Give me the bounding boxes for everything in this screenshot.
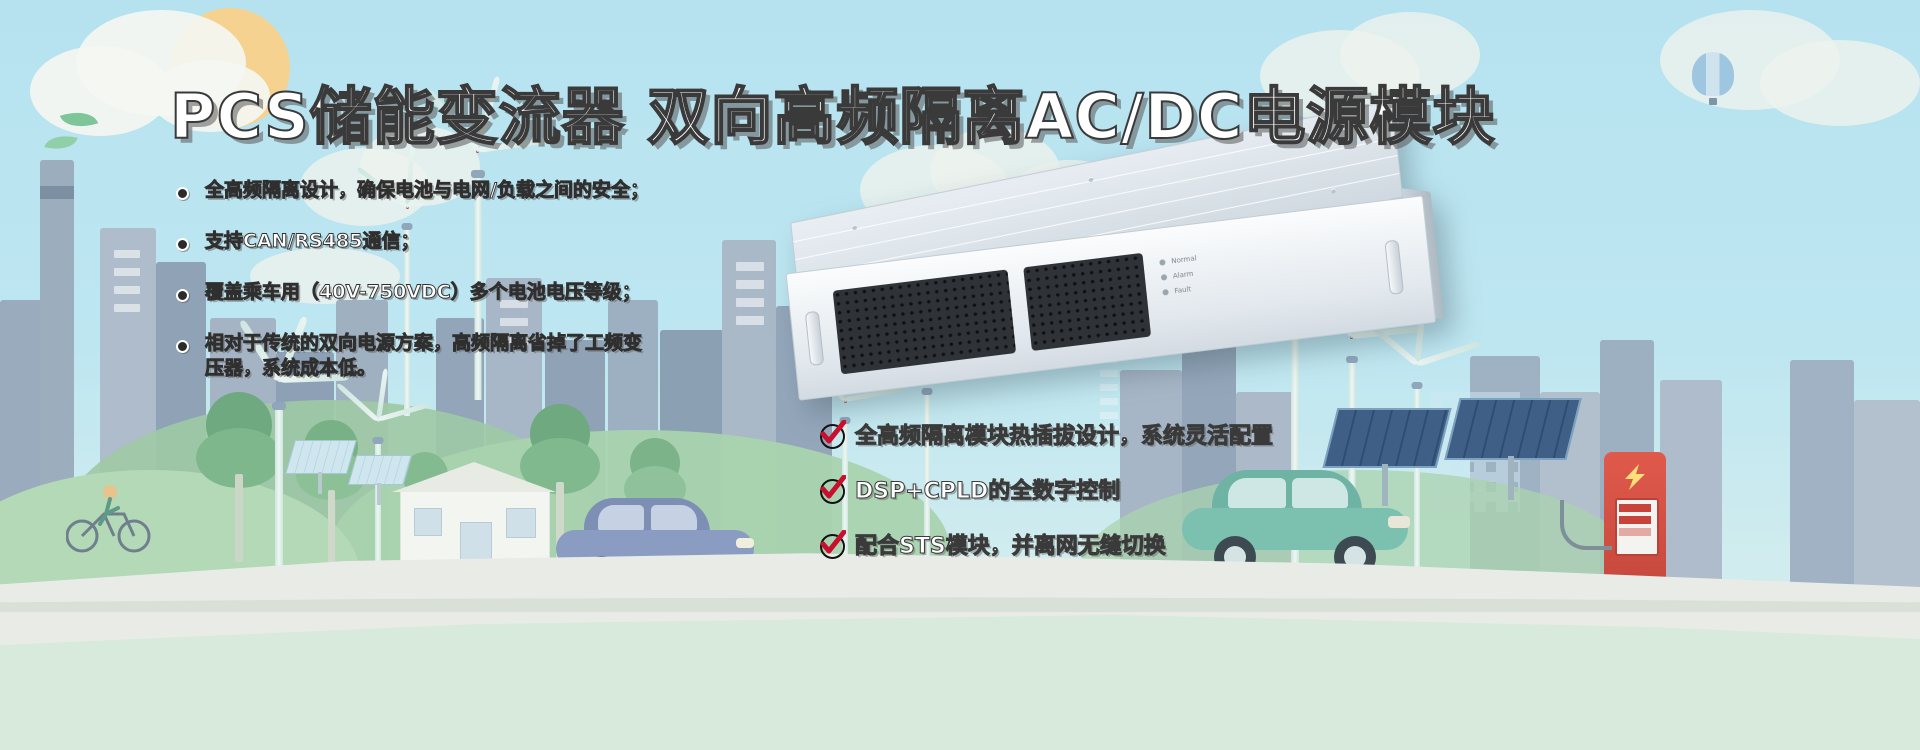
- check-mark-icon: [818, 475, 846, 503]
- list-item: DSP+CPLD的全数字控制: [818, 473, 1273, 505]
- highlight-list: 全高频隔离模块热插拔设计，系统灵活配置 DSP+CPLD的全数字控制 配合STS…: [818, 418, 1273, 583]
- feature-list: 全高频隔离设计，确保电池与电网/负载之间的安全； 支持CAN/RS485通信； …: [176, 178, 896, 407]
- lightning-bolt-icon: [1617, 464, 1653, 490]
- check-mark-icon: [818, 420, 846, 448]
- window-shape: [114, 268, 140, 276]
- device-vent-grille: [1023, 253, 1151, 351]
- bullet-dot-icon: [176, 340, 189, 353]
- led-indicator: [1159, 259, 1166, 266]
- list-item: 全高频隔离设计，确保电池与电网/负载之间的安全；: [176, 178, 896, 203]
- led-indicator: [1161, 274, 1168, 281]
- led-row: Fault: [1162, 284, 1200, 297]
- window-shape: [114, 304, 140, 312]
- cloud-shape: [1760, 40, 1920, 126]
- check-mark-icon: [818, 530, 846, 558]
- led-label: Fault: [1174, 285, 1192, 295]
- leaf-icon: [44, 131, 77, 155]
- highlight-text: DSP+CPLD的全数字控制: [855, 473, 1120, 505]
- house-icon: [400, 462, 548, 570]
- list-item: 覆盖乘车用（40V-750VDC）多个电池电压等级；: [176, 280, 896, 305]
- led-row: Alarm: [1161, 269, 1199, 282]
- list-item: 配合STS模块，并离网无缝切换: [818, 528, 1273, 560]
- led-indicator: [1162, 289, 1169, 296]
- charging-cable: [1560, 500, 1612, 550]
- bullet-dot-icon: [176, 238, 189, 251]
- banner: Normal Alarm Fault PCS储能变流器 双向高频隔离AC/DC电…: [0, 0, 1920, 750]
- feature-text: 相对于传统的双向电源方案，高频隔离省掉了工频变压器，系统成本低。: [205, 331, 646, 381]
- building-shape: [1854, 400, 1920, 600]
- device-handle-right: [1384, 240, 1404, 295]
- window-shape: [114, 286, 140, 294]
- list-item: 支持CAN/RS485通信；: [176, 229, 896, 254]
- feature-text: 全高频隔离设计，确保电池与电网/负载之间的安全；: [205, 178, 649, 203]
- highlight-text: 配合STS模块，并离网无缝切换: [855, 528, 1166, 560]
- led-row: Normal: [1159, 254, 1197, 267]
- window-shape: [114, 250, 140, 258]
- building-shape: [1660, 380, 1722, 600]
- bullet-dot-icon: [176, 289, 189, 302]
- chimney-stripe: [40, 186, 74, 199]
- page-title: PCS储能变流器 双向高频隔离AC/DC电源模块: [170, 66, 1495, 156]
- bicycle-icon: [66, 478, 152, 554]
- hot-air-balloon-icon: [1692, 52, 1734, 108]
- led-label: Normal: [1171, 254, 1197, 265]
- highlight-text: 全高频隔离模块热插拔设计，系统灵活配置: [855, 418, 1273, 450]
- list-item: 全高频隔离模块热插拔设计，系统灵活配置: [818, 418, 1273, 450]
- solar-panel-icon: [290, 440, 350, 496]
- building-shape: [1790, 360, 1854, 600]
- feature-text: 支持CAN/RS485通信；: [205, 229, 419, 254]
- device-status-leds: Normal Alarm Fault: [1159, 254, 1201, 303]
- solar-panel-icon: [1452, 398, 1570, 502]
- list-item: 相对于传统的双向电源方案，高频隔离省掉了工频变压器，系统成本低。: [176, 331, 646, 381]
- led-label: Alarm: [1173, 270, 1194, 280]
- bullet-dot-icon: [176, 187, 189, 200]
- cloud-shape: [30, 46, 170, 136]
- feature-text: 覆盖乘车用（40V-750VDC）多个电池电压等级；: [205, 280, 641, 305]
